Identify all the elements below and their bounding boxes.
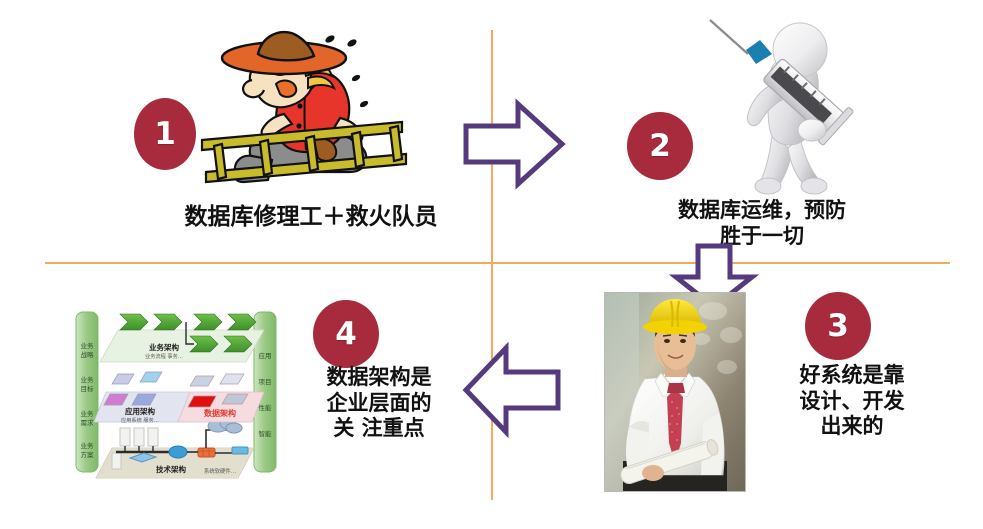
cartoon-firefighter-with-ladder-illustration (188, 22, 416, 197)
slide-canvas: 1 数据库修理工＋救火队员 (0, 0, 983, 529)
quadrant-4-caption: 数据架构是 企业层面的 关 注重点 (303, 365, 455, 442)
svg-text:业务: 业务 (81, 441, 95, 450)
svg-text:项目: 项目 (259, 378, 272, 386)
3d-figure-with-syringe-illustration (700, 18, 890, 198)
svg-text:技术架构: 技术架构 (156, 464, 186, 474)
svg-text:性能: 性能 (259, 403, 273, 412)
quadrant-2-caption: 数据库运维，预防 胜于一切 (648, 198, 876, 249)
quadrant-1-caption: 数据库修理工＋救火队员 (166, 203, 456, 231)
svg-text:方案: 方案 (81, 450, 95, 459)
quadrant-2-number-badge: 2 (627, 112, 693, 180)
arrow-left-q3-to-q4 (462, 342, 562, 442)
svg-text:业务流程 事务…: 业务流程 事务… (145, 352, 183, 360)
quadrant-3-caption: 好系统是靠 设计、开发 出来的 (772, 363, 932, 440)
svg-text:应用架构: 应用架构 (125, 406, 155, 416)
quadrant-3-number-badge: 3 (805, 292, 871, 360)
quadrant-4-number-badge: 4 (313, 300, 379, 368)
svg-text:应用系统 服务…: 应用系统 服务… (121, 416, 159, 424)
horizontal-divider (45, 262, 950, 264)
svg-text:数据架构: 数据架构 (204, 408, 236, 418)
svg-text:业务: 业务 (81, 341, 95, 350)
engineer-photo (604, 292, 746, 492)
svg-text:需求: 需求 (81, 418, 95, 427)
svg-text:目标: 目标 (81, 384, 95, 393)
arrow-right-q1-to-q2 (462, 98, 568, 194)
quadrant-1-number-badge: 1 (134, 98, 196, 170)
svg-text:智能: 智能 (259, 429, 273, 438)
svg-text:业务架构: 业务架构 (149, 342, 179, 352)
svg-text:系统软硬件…: 系统软硬件… (204, 467, 236, 475)
svg-text:战略: 战略 (81, 350, 95, 359)
svg-text:业务: 业务 (81, 375, 95, 384)
enterprise-architecture-diagram: 业务战略 业务目标 业务需求 业务方案 应用 项目 性能 智能 (68, 296, 286, 486)
svg-text:业务: 业务 (81, 409, 95, 418)
svg-text:应用: 应用 (259, 351, 272, 360)
